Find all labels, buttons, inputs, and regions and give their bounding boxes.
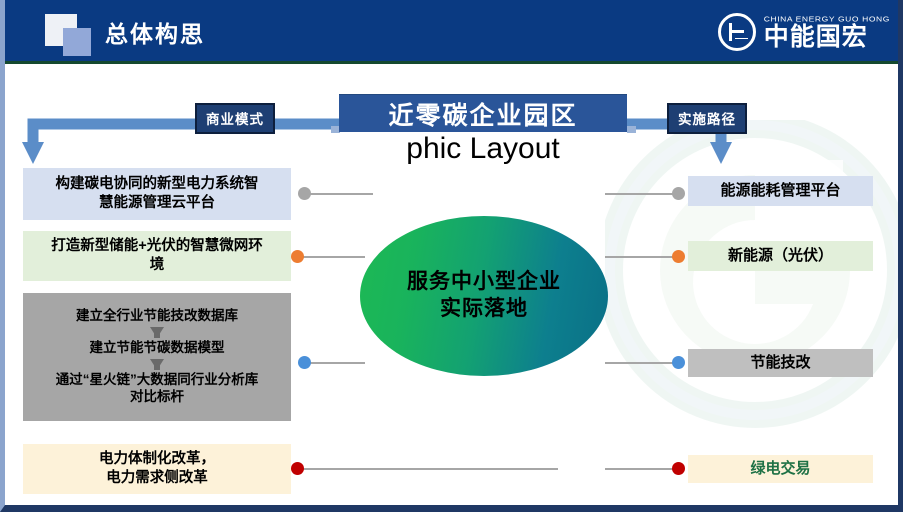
right-node-2[interactable]: 新能源（光伏） [688, 241, 873, 271]
company-logo: CHINA ENERGY GUO HONG 中能国宏 [718, 10, 890, 54]
logo-text-group: CHINA ENERGY GUO HONG 中能国宏 [764, 14, 890, 50]
center-title-banner: 近零碳企业园区 [339, 94, 627, 132]
logo-chinese-name: 中能国宏 [764, 25, 890, 50]
graphic-placeholder-text: phic Layout [339, 133, 627, 165]
banner-cap-right [627, 126, 636, 133]
connector-left-3 [303, 362, 365, 364]
left-node-2[interactable]: 打造新型储能+光伏的智慧微网环 境 [23, 231, 291, 281]
dot-left-4 [291, 462, 304, 475]
right-node-1[interactable]: 能源能耗管理平台 [688, 176, 873, 206]
logo-circle-icon [718, 13, 756, 51]
right-node-4[interactable]: 绿电交易 [688, 455, 873, 483]
center-title-text: 近零碳企业园区 [388, 96, 577, 132]
right-node-3[interactable]: 节能技改 [688, 349, 873, 377]
header-square-front-icon [63, 28, 91, 56]
dot-right-3 [672, 356, 685, 369]
page-title: 总体构思 [105, 15, 205, 49]
connector-right-1 [605, 193, 677, 195]
logo-english-name: CHINA ENERGY GUO HONG [764, 15, 890, 24]
connector-right-4 [605, 468, 677, 470]
dot-right-4 [672, 462, 685, 475]
left-node-3[interactable]: 建立全行业节能技改数据库 建立节能节碳数据模型 通过“星火链”大数据同行业分析库… [23, 293, 291, 421]
dot-right-2 [672, 250, 685, 263]
left-node-3-flow: 建立全行业节能技改数据库 建立节能节碳数据模型 通过“星火链”大数据同行业分析库… [23, 308, 291, 406]
left-node-3-row-3: 通过“星火链”大数据同行业分析库 对比标杆 [56, 372, 259, 406]
connector-right-2 [605, 256, 677, 258]
dot-left-1 [298, 187, 311, 200]
slide-header: 总体构思 CHINA ENERGY GUO HONG 中能国宏 [5, 0, 903, 64]
connector-left-1 [303, 193, 373, 195]
connector-left-4 [303, 468, 558, 470]
left-node-3-row-1: 建立全行业节能技改数据库 [76, 308, 238, 325]
dot-left-2 [291, 250, 304, 263]
left-node-3-row-2: 建立节能节碳数据模型 [90, 340, 225, 357]
tag-implementation-path[interactable]: 实施路径 [667, 103, 747, 134]
dot-left-3 [298, 356, 311, 369]
down-arrow-icon [150, 359, 164, 370]
center-ellipse: 服务中小型企业 实际落地 [360, 216, 608, 376]
dot-right-1 [672, 187, 685, 200]
connector-left-2 [303, 256, 365, 258]
tag-business-model[interactable]: 商业模式 [195, 103, 275, 134]
slide-canvas: 总体构思 CHINA ENERGY GUO HONG 中能国宏 商业模式 实施路… [0, 0, 903, 512]
left-node-4[interactable]: 电力体制化改革， 电力需求侧改革 [23, 444, 291, 494]
left-node-1[interactable]: 构建碳电协同的新型电力系统智 慧能源管理云平台 [23, 168, 291, 220]
left-elbow-arrow-icon [19, 118, 349, 170]
down-arrow-icon [150, 327, 164, 338]
center-ellipse-text: 服务中小型企业 实际落地 [407, 269, 561, 323]
connector-right-3 [605, 362, 677, 364]
